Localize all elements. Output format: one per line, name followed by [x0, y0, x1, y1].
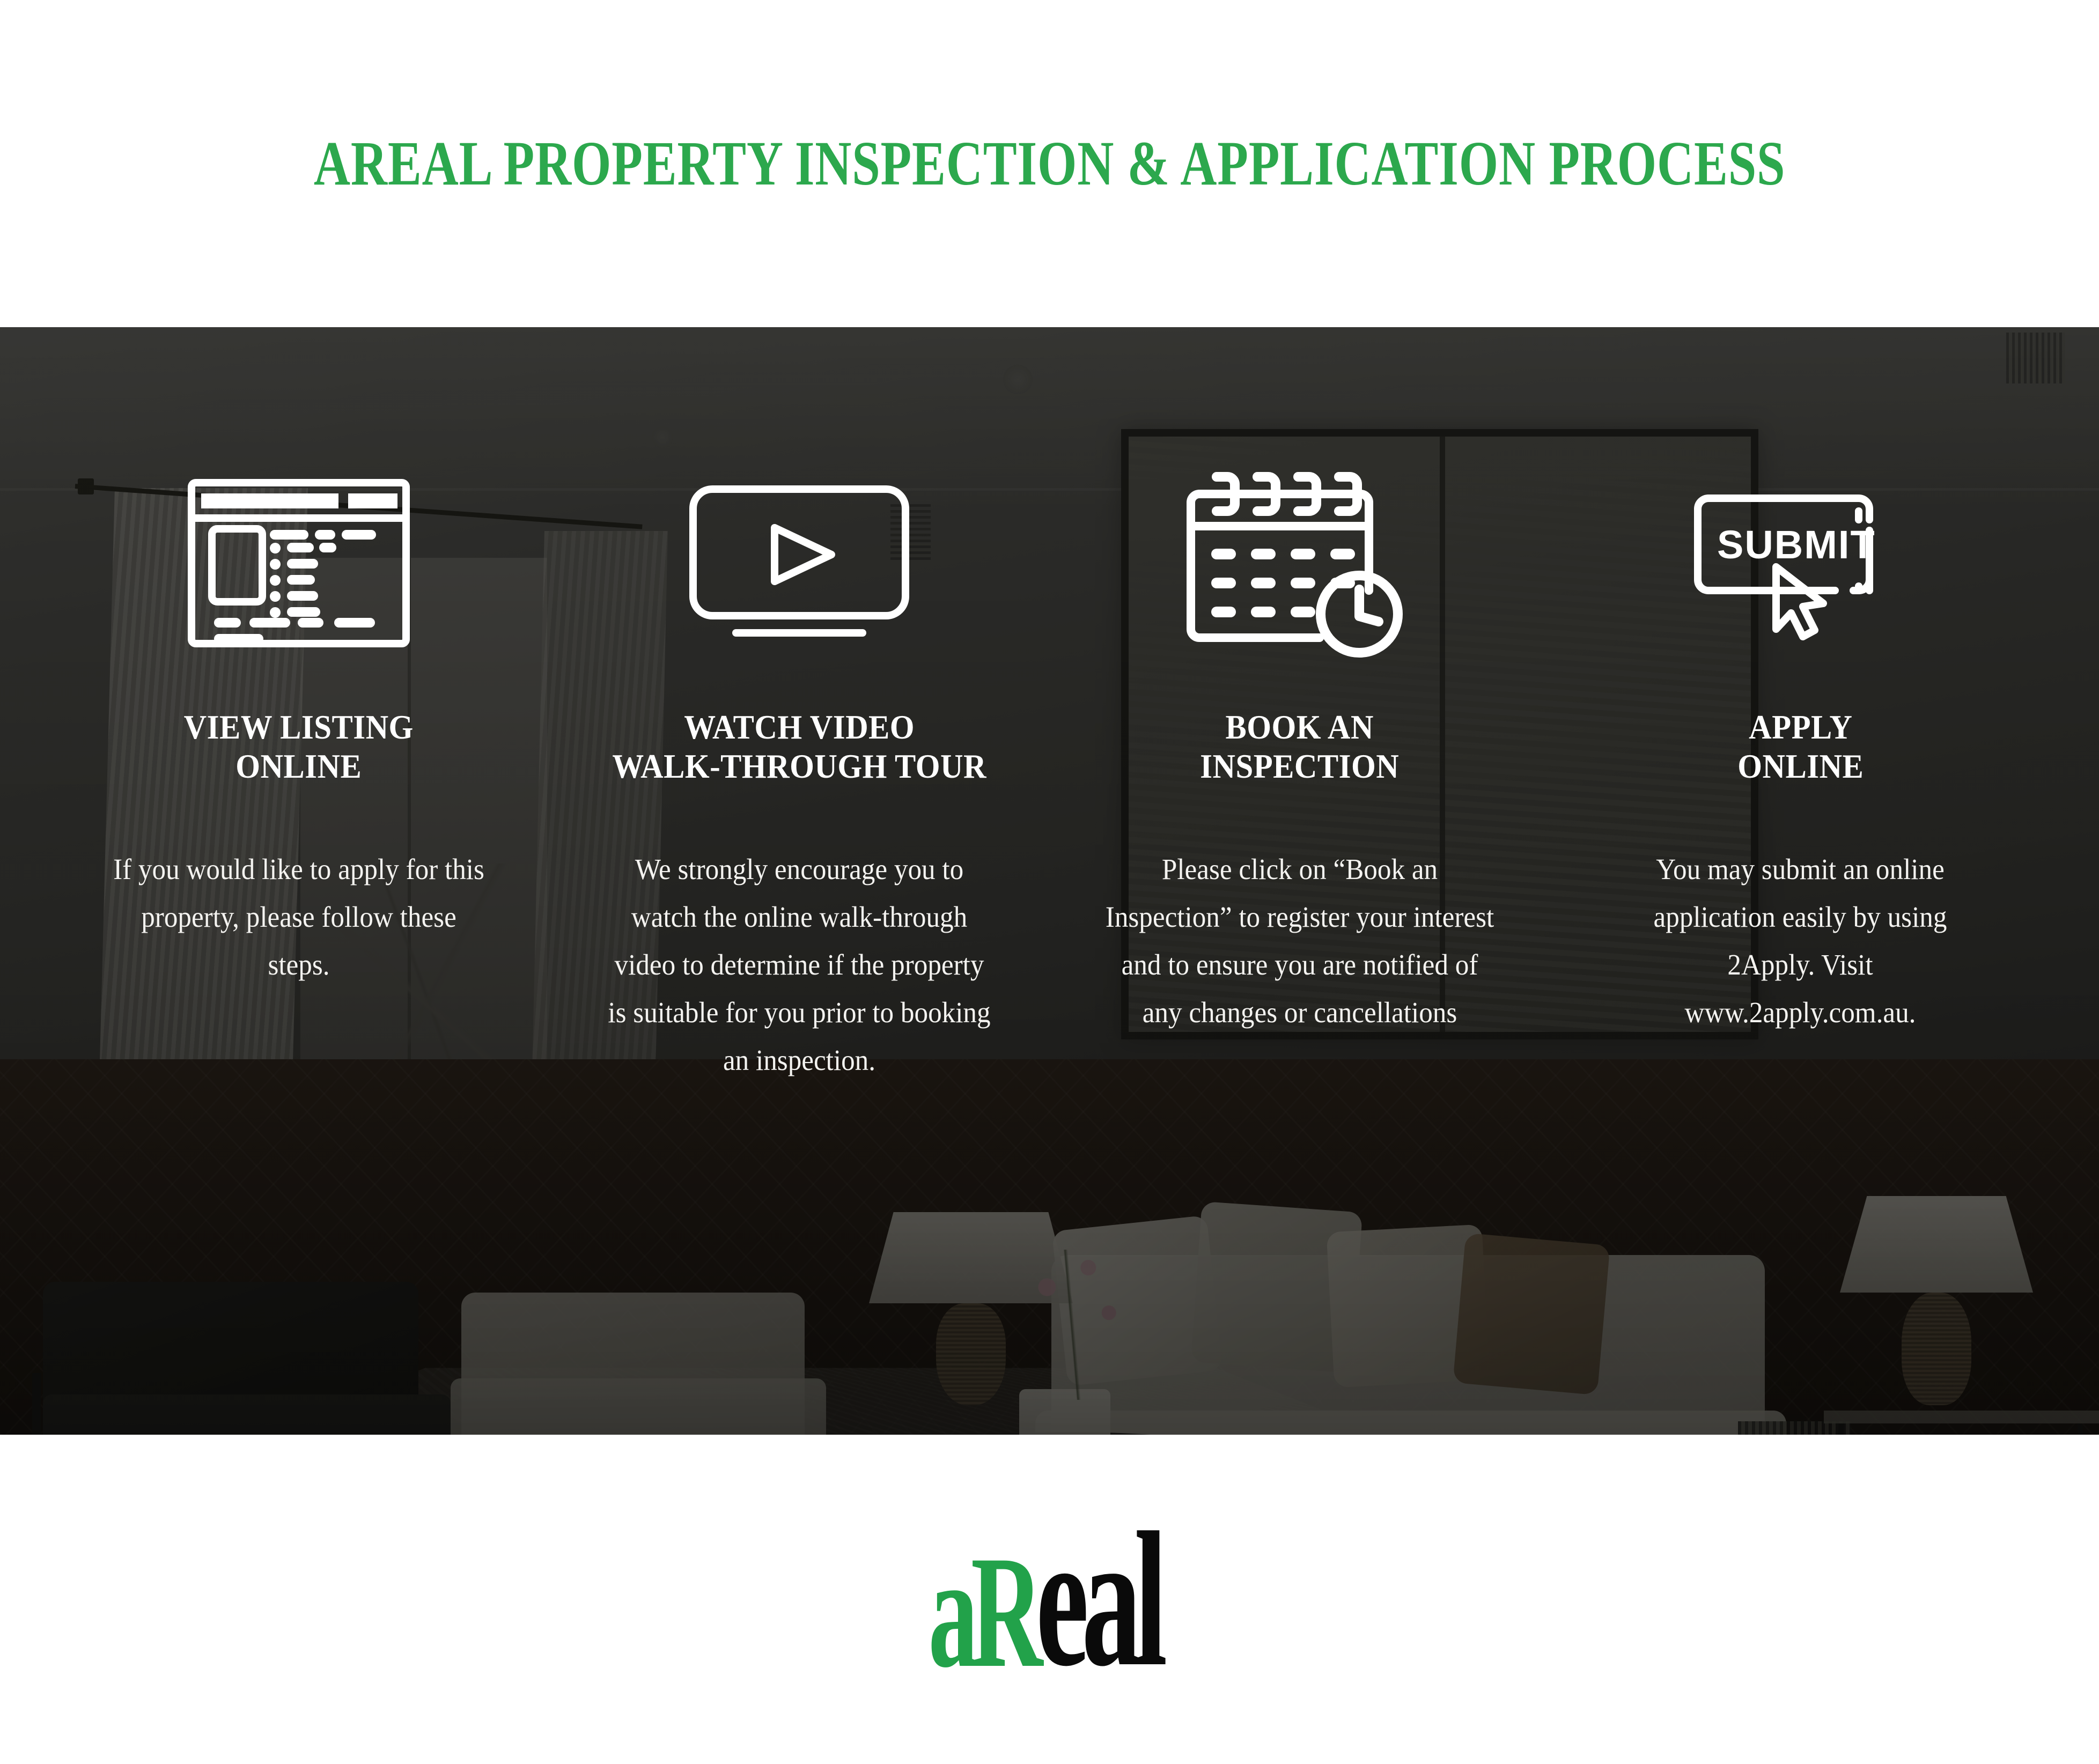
page-title: AREAL PROPERTY INSPECTION & APPLICATION …: [314, 127, 1785, 200]
areal-logo[interactable]: aReal: [863, 1524, 1236, 1675]
step-description: If you would like to apply for this prop…: [109, 845, 488, 988]
step-description: Please click on “Book an Inspection” to …: [1103, 845, 1497, 1036]
submit-button-cursor-icon: SUBMIT: [1685, 467, 1916, 660]
video-play-icon: [687, 467, 912, 660]
step-title: BOOK AN INSPECTION: [1201, 708, 1400, 786]
listing-window-icon: [186, 467, 411, 660]
step-book-an-inspection[interactable]: BOOK AN INSPECTION Please click on “Book…: [1050, 327, 1550, 1435]
step-apply-online[interactable]: SUBMIT APPLY ONLINE You may submit an on…: [1550, 327, 2051, 1435]
hero-banner: VIEW LISTING ONLINE If you would like to…: [0, 327, 2099, 1435]
logo-black-part: eal: [1036, 1524, 1160, 1675]
step-title: VIEW LISTING ONLINE: [184, 708, 414, 786]
step-watch-video-walkthrough[interactable]: WATCH VIDEO WALK-THROUGH TOUR We strongl…: [549, 327, 1049, 1435]
step-title: WATCH VIDEO WALK-THROUGH TOUR: [612, 708, 986, 786]
step-description: We strongly encourage you to watch the o…: [602, 845, 997, 1084]
step-title-line2: ONLINE: [1737, 747, 1864, 785]
page-header: AREAL PROPERTY INSPECTION & APPLICATION …: [0, 0, 2099, 327]
steps-row: VIEW LISTING ONLINE If you would like to…: [0, 327, 2099, 1435]
step-title: APPLY ONLINE: [1737, 708, 1864, 786]
page-footer: aReal: [0, 1435, 2099, 1764]
step-title-line1: VIEW LISTING: [184, 708, 414, 746]
step-title-line2: INSPECTION: [1201, 747, 1400, 785]
step-description: You may submit an online application eas…: [1611, 845, 1990, 1036]
logo-green-part: aR: [929, 1549, 1036, 1674]
calendar-clock-icon: [1184, 467, 1415, 660]
submit-label: SUBMIT: [1717, 522, 1876, 567]
step-title-line2: WALK-THROUGH TOUR: [612, 747, 986, 785]
step-title-line1: BOOK AN: [1226, 708, 1374, 746]
step-view-listing-online[interactable]: VIEW LISTING ONLINE If you would like to…: [48, 327, 549, 1435]
step-title-line1: APPLY: [1749, 708, 1852, 746]
step-title-line1: WATCH VIDEO: [684, 708, 915, 746]
step-title-line2: ONLINE: [235, 747, 362, 785]
